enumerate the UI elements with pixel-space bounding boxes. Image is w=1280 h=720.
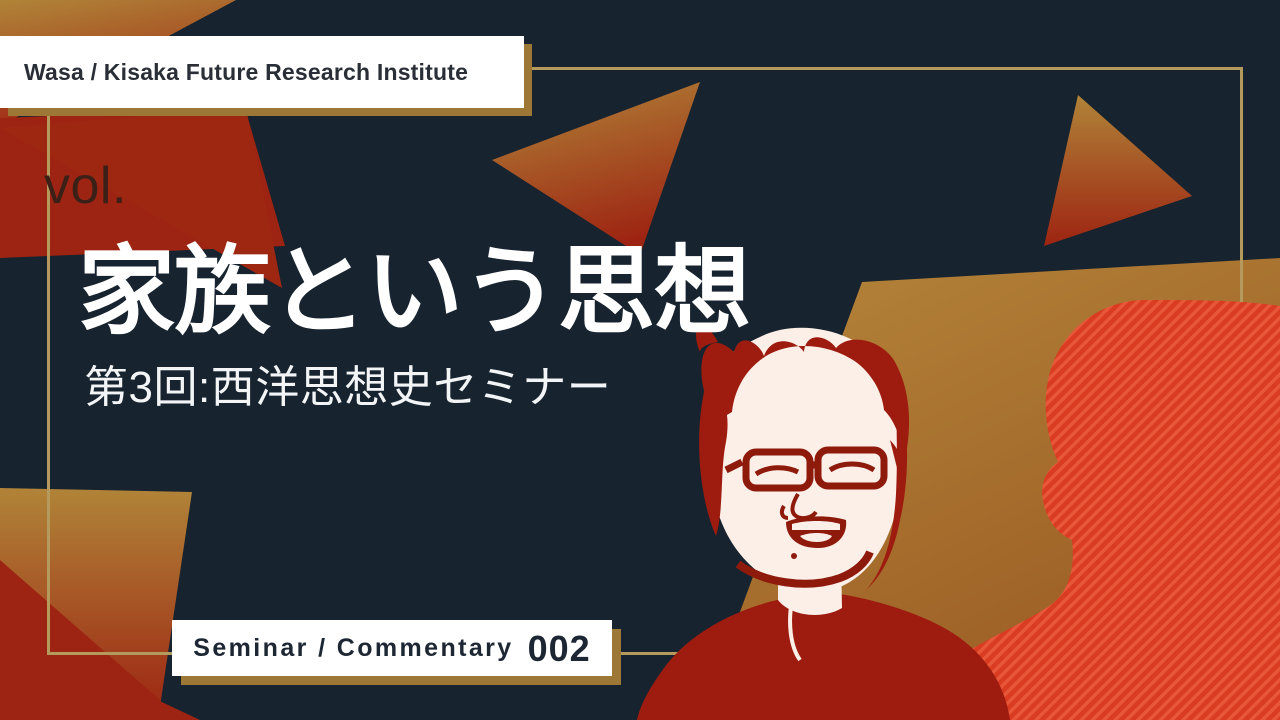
- seminar-badge-number: 002: [528, 631, 591, 667]
- title-slide: vol.: [0, 0, 1280, 720]
- page-subtitle: 第3回:西洋思想史セミナー: [84, 364, 838, 412]
- institution-plate: Wasa / Kisaka Future Research Institute: [0, 36, 524, 108]
- institution-name: Wasa / Kisaka Future Research Institute: [24, 59, 468, 86]
- page-title: 家族という思想: [78, 243, 838, 342]
- seminar-badge-front: Seminar / Commentary 002: [172, 620, 612, 676]
- institution-plate-front: Wasa / Kisaka Future Research Institute: [0, 36, 524, 108]
- seminar-badge-label: Seminar / Commentary: [193, 634, 513, 663]
- title-block: 家族という思想 第3回:西洋思想史セミナー: [78, 243, 838, 412]
- volume-watermark: vol.: [44, 160, 127, 212]
- seminar-badge: Seminar / Commentary 002: [172, 620, 612, 676]
